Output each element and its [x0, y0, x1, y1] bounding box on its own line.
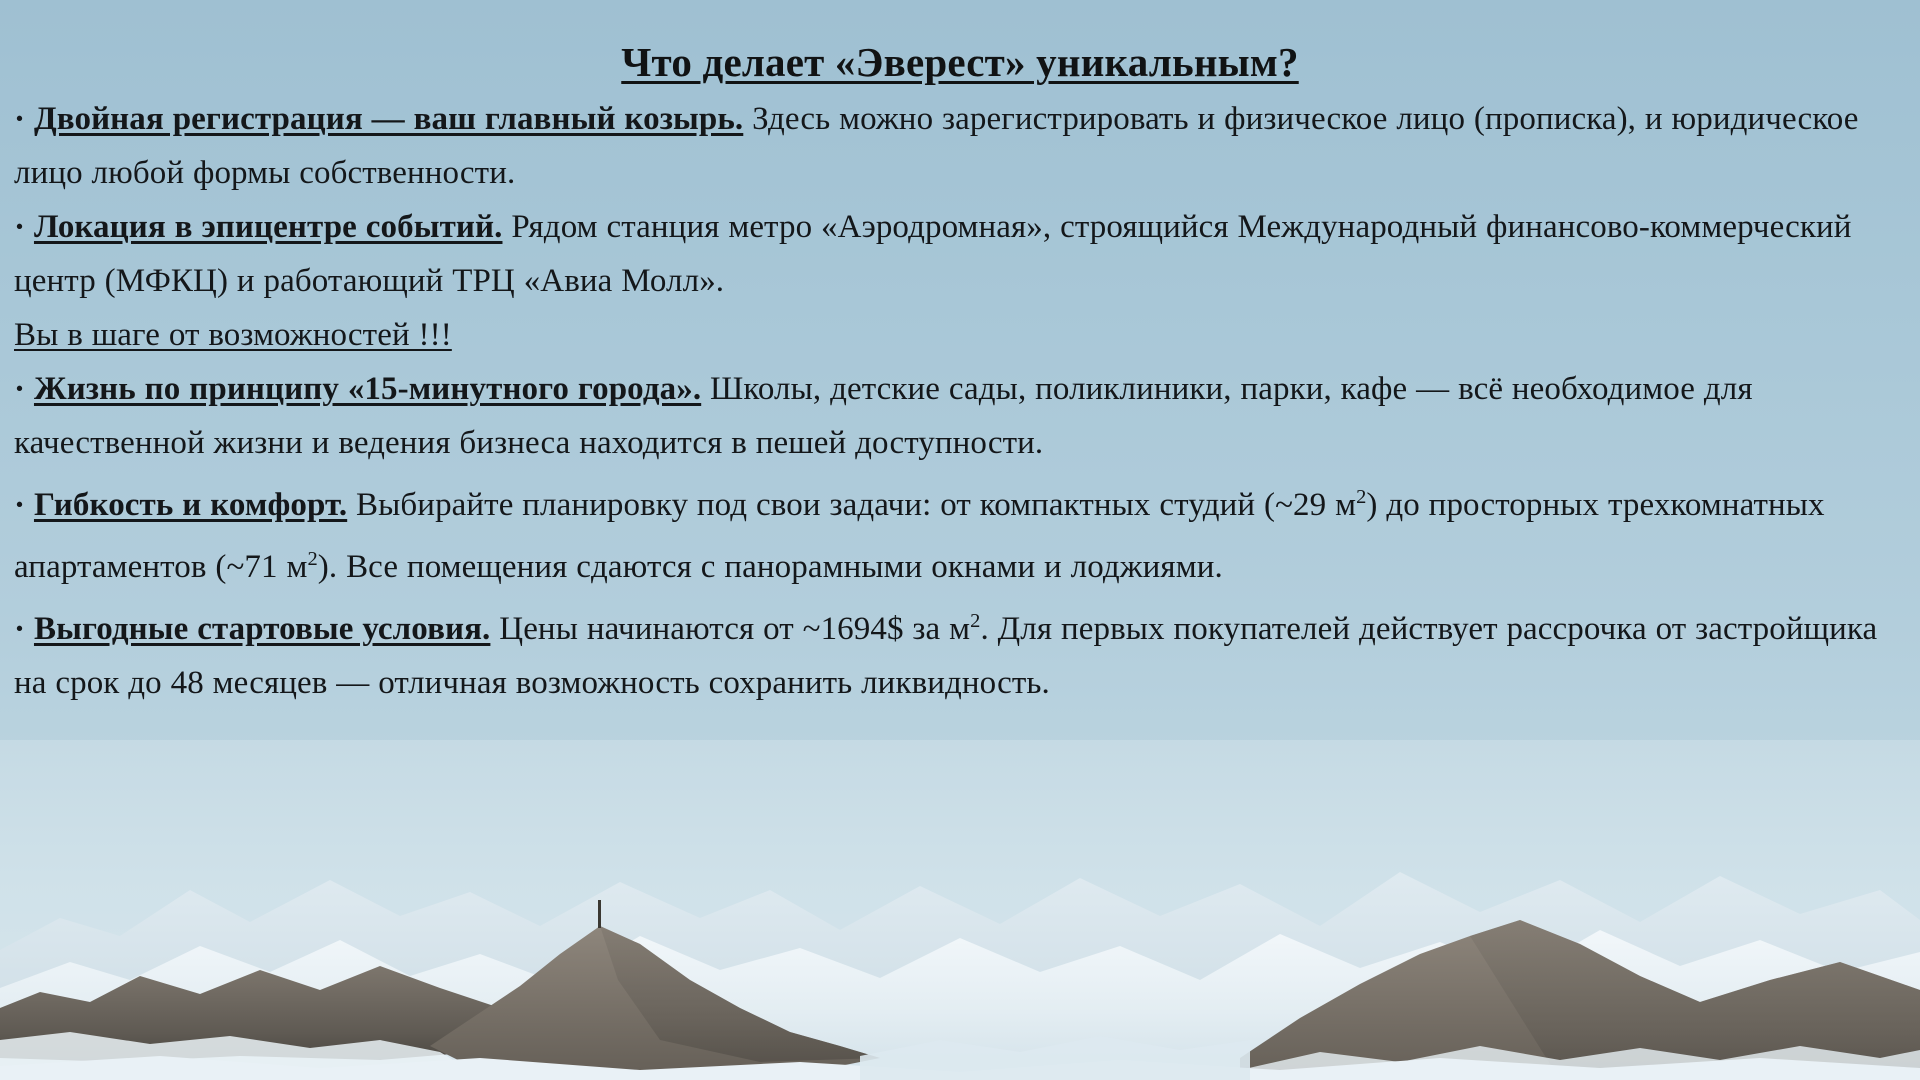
- bullet-body-flex-c: ). Все помещения сдаются с панорамными о…: [318, 549, 1223, 585]
- bullet-lead-starting-terms: Выгодные стартовые условия.: [34, 611, 490, 647]
- page-title-text: Что делает «Эверест» уникальным?: [621, 39, 1298, 85]
- bullet-fifteen-minute-city: · Жизнь по принципу «15-минутного города…: [14, 362, 1906, 470]
- bullet-lead-dual-registration: Двойная регистрация — ваш главный козырь…: [34, 101, 743, 137]
- superscript-square-meters-three-room: 2: [307, 548, 317, 570]
- mountain-photo: [0, 740, 1920, 1080]
- bullet-dual-registration: · Двойная регистрация — ваш главный козы…: [14, 92, 1906, 200]
- peak-antenna-icon: [598, 900, 601, 928]
- bullet-marker: ·: [14, 611, 25, 647]
- superscript-square-meters-price: 2: [970, 610, 980, 632]
- mountain-ridge-svg: [0, 740, 1920, 1080]
- bullet-marker: ·: [14, 487, 25, 523]
- bullet-marker: ·: [14, 209, 25, 245]
- bullet-body-terms-a: Цены начинаются от ~1694$ за м: [490, 611, 970, 647]
- bullet-marker: ·: [14, 101, 25, 137]
- bullet-flexibility-comfort: · Гибкость и комфорт. Выбирайте планиров…: [14, 470, 1906, 594]
- bullet-location: · Локация в эпицентре событий. Рядом ста…: [14, 200, 1906, 362]
- bullet-lead-fifteen-minute-city: Жизнь по принципу «15-минутного города».: [34, 371, 701, 407]
- bullet-marker: ·: [14, 371, 25, 407]
- slide-content: Что делает «Эверест» уникальным? · Двойн…: [0, 0, 1920, 710]
- superscript-square-meters-studio: 2: [1356, 486, 1366, 508]
- presentation-slide: Что делает «Эверест» уникальным? · Двойн…: [0, 0, 1920, 1080]
- bullet-lead-flexibility-comfort: Гибкость и комфорт.: [34, 487, 347, 523]
- location-tagline: Вы в шаге от возможностей !!!: [14, 317, 452, 353]
- page-title: Что делает «Эверест» уникальным?: [14, 38, 1906, 86]
- bullet-starting-terms: · Выгодные стартовые условия. Цены начин…: [14, 594, 1906, 710]
- bullet-body-flex-a: Выбирайте планировку под свои задачи: от…: [347, 487, 1356, 523]
- bullet-lead-location: Локация в эпицентре событий.: [34, 209, 503, 245]
